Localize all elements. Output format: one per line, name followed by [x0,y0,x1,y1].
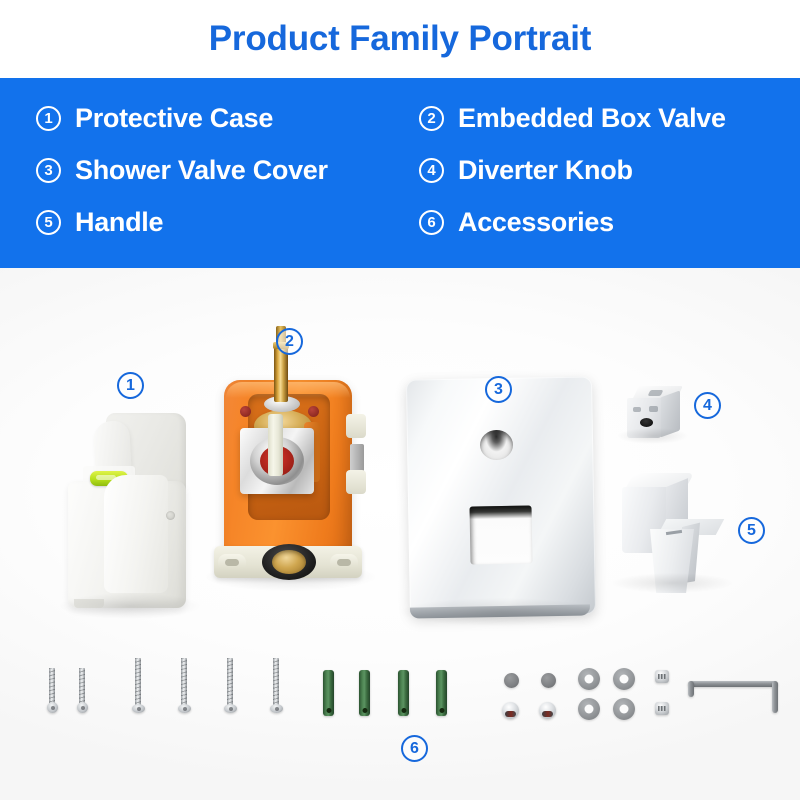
part-accessories [0,268,800,800]
shadow-case [60,593,200,619]
grub-screw [655,670,669,683]
screw-thread-icon [181,658,187,709]
wall-anchor [323,670,334,716]
callout-badge-5: 5 [738,517,765,544]
valve-mount-tab-top [346,414,366,438]
screw-shaft [273,658,279,709]
screw-shaft [227,658,233,709]
wall-anchor [398,670,409,716]
screw-head [132,704,145,713]
legend-badge-4: 4 [419,158,444,183]
screw-head [77,702,88,713]
short-screw [77,668,87,716]
screw-head [224,704,237,713]
screw-shaft [181,658,187,709]
product-infographic: Product Family Portrait 1 Protective Cas… [0,0,800,800]
valve-screw-left-icon [240,406,251,417]
washer [613,668,635,690]
legend-label-2: Embedded Box Valve [458,105,726,132]
legend-label-3: Shower Valve Cover [75,157,328,184]
product-photo: 1 2 3 4 5 6 [0,268,800,800]
legend-badge-2: 2 [419,106,444,131]
long-screw [270,658,282,720]
shadow-plate [400,598,600,626]
legend-badge-5: 5 [36,210,61,235]
screw-shaft [135,658,141,709]
page-title: Product Family Portrait [209,19,591,59]
legend-item-diverter-knob: 4 Diverter Knob [419,157,633,184]
legend-item-protective-case: 1 Protective Case [36,105,273,132]
legend-badge-6: 6 [419,210,444,235]
valve-mount-ear-left [218,554,246,571]
screw-shaft [49,668,55,706]
legend-badge-3: 3 [36,158,61,183]
callout-badge-6: 6 [401,735,428,762]
long-screw [178,658,190,720]
legend-label-4: Diverter Knob [458,157,633,184]
title-bar: Product Family Portrait [0,0,800,78]
legend-item-embedded-box-valve: 2 Embedded Box Valve [419,105,726,132]
legend-item-accessories: 6 Accessories [419,209,614,236]
grub-screw [655,702,669,715]
hex-key-long-arm [688,681,778,687]
legend-badge-1: 1 [36,106,61,131]
screw-thread-icon [49,668,55,706]
legend-item-handle: 5 Handle [36,209,163,236]
legend-item-shower-valve-cover: 3 Shower Valve Cover [36,157,328,184]
valve-clip [350,444,364,472]
callout-badge-2: 2 [276,328,303,355]
hex-key-bend [772,681,778,713]
screw-thread-icon [273,658,279,709]
screw-cap [541,673,556,688]
screw-thread-icon [227,658,233,709]
screw-thread-icon [135,658,141,709]
long-screw [132,658,144,720]
callout-badge-1: 1 [117,372,144,399]
legend-label-5: Handle [75,209,163,236]
washer [613,698,635,720]
screw-head [178,704,191,713]
shadow-handle [612,573,732,593]
valve-brass-port [272,550,306,574]
short-screw [47,668,57,716]
wall-anchor [359,670,370,716]
long-screw [224,658,236,720]
screw-head [270,704,283,713]
wall-anchor [436,670,447,716]
valve-white-spindle [268,414,283,476]
screw-shaft [79,668,85,706]
chrome-screw-cap [502,702,519,719]
valve-mount-tab-bottom [346,470,366,494]
screw-cap [504,673,519,688]
washer [578,668,600,690]
legend-label-6: Accessories [458,209,614,236]
washer [578,698,600,720]
callout-badge-4: 4 [694,392,721,419]
callout-badge-3: 3 [485,376,512,403]
hex-key-short-arm [688,681,694,697]
shadow-knob [618,428,688,444]
legend-label-1: Protective Case [75,105,273,132]
valve-mount-ear-right [330,554,358,571]
legend-band: 1 Protective Case 2 Embedded Box Valve 3… [0,78,800,268]
screw-thread-icon [79,668,85,706]
screw-head [47,702,58,713]
chrome-screw-cap [539,702,556,719]
valve-screw-right-icon [308,406,319,417]
